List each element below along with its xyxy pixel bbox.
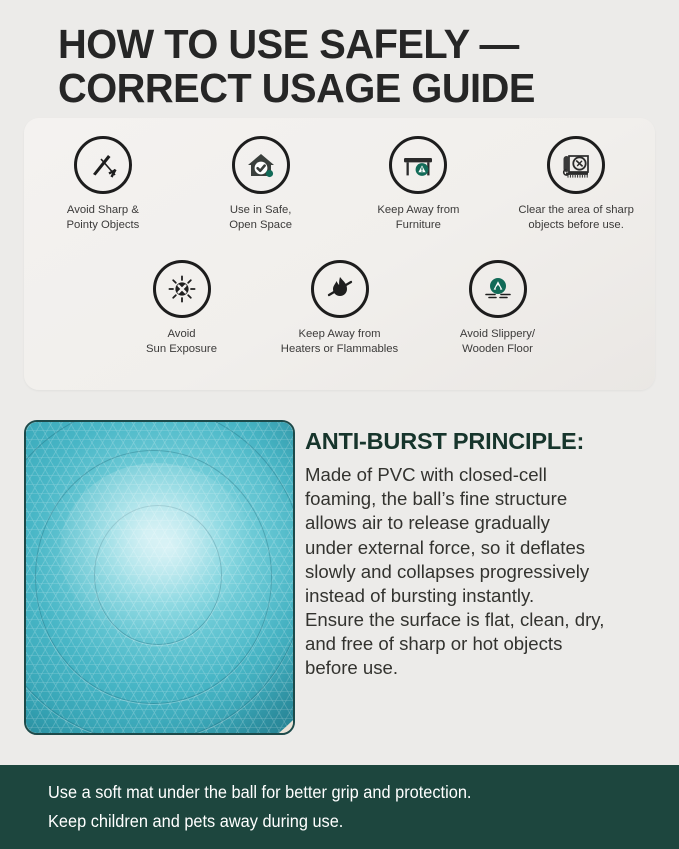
exercise-ball-image (24, 420, 295, 735)
anti-burst-text-column: ANTI-BURST PRINCIPLE: Made of PVC with c… (305, 428, 665, 681)
safety-item-label: Clear the area of sharp objects before u… (504, 203, 649, 233)
safety-item-label: Avoid Sharp & Pointy Objects (66, 203, 139, 233)
knife-and-sharp-objects-icon (74, 136, 132, 194)
safety-item-avoid-sharp-objects: Avoid Sharp & Pointy Objects (24, 136, 182, 233)
footer-tip-line-2: Keep children and pets away during use. (48, 807, 641, 836)
house-with-check-icon (232, 136, 290, 194)
safety-item-clear-sharp-objects: Clear the area of sharp objects before u… (497, 136, 655, 233)
anti-burst-body: Made of PVC with closed-cell foaming, th… (305, 463, 665, 681)
safety-item-keep-away-from-furniture: Keep Away from Furniture (340, 136, 498, 233)
safety-item-keep-away-from-heaters: Keep Away from Heaters or Flammables (261, 260, 419, 357)
product-image-panel (24, 420, 295, 735)
footer-tips-banner: Use a soft mat under the ball for better… (0, 765, 679, 849)
title-block: HOW TO USE SAFELY — CORRECT USAGE GUIDE (0, 0, 679, 111)
safety-item-use-in-safe-space: Use in Safe, Open Space (182, 136, 340, 233)
product-info-section: ANTI-BURST PRINCIPLE: Made of PVC with c… (0, 418, 679, 740)
safety-item-label: Keep Away from Furniture (377, 203, 459, 233)
no-flame-icon (311, 260, 369, 318)
safety-item-label: Avoid Slippery/ Wooden Floor (460, 327, 535, 357)
rolled-mat-no-sharp-objects-icon (547, 136, 605, 194)
safety-guidelines-card: Avoid Sharp & Pointy Objects Use in Safe… (24, 118, 655, 390)
sun-with-x-icon (153, 260, 211, 318)
safety-item-avoid-slippery-floor: Avoid Slippery/ Wooden Floor (419, 260, 577, 357)
slippery-floor-warning-icon (469, 260, 527, 318)
safety-item-label: Use in Safe, Open Space (229, 203, 292, 233)
anti-burst-heading: ANTI-BURST PRINCIPLE: (305, 428, 665, 455)
safety-item-avoid-sun-exposure: Avoid Sun Exposure (103, 260, 261, 357)
page-title: HOW TO USE SAFELY — CORRECT USAGE GUIDE (58, 22, 633, 111)
table-with-warning-icon (389, 136, 447, 194)
safety-item-label: Keep Away from Heaters or Flammables (267, 327, 412, 357)
ball-highlight (60, 463, 253, 639)
safety-item-label: Avoid Sun Exposure (146, 327, 217, 357)
safety-icon-row-1: Avoid Sharp & Pointy Objects Use in Safe… (24, 136, 655, 233)
footer-tip-line-1: Use a soft mat under the ball for better… (48, 778, 641, 807)
safety-icon-row-2: Avoid Sun Exposure Keep Away from Heater… (24, 260, 655, 357)
